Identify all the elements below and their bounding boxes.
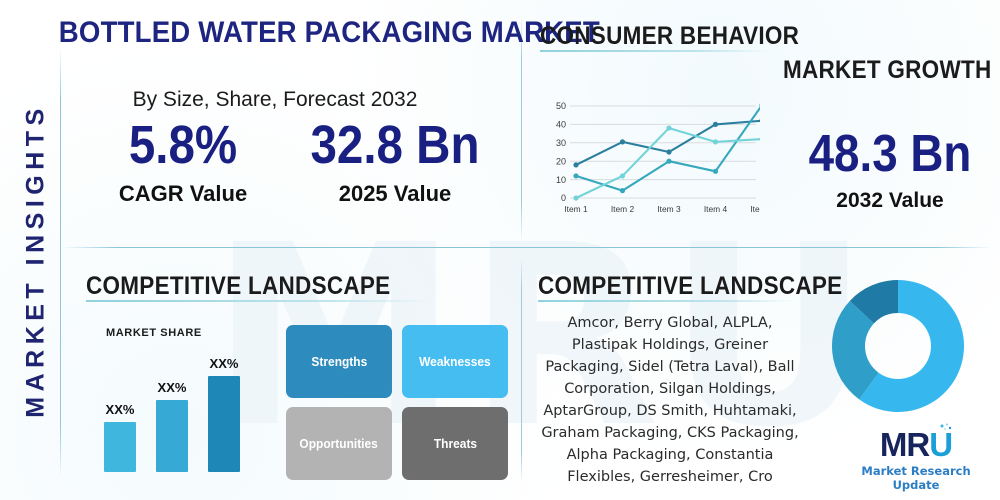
logo-mark-prefix: MR xyxy=(880,426,929,463)
section-rule-competitive-landscape-right xyxy=(538,300,796,302)
kpi-cagr-label: CAGR Value xyxy=(88,183,278,205)
bar-value-label: XX% xyxy=(106,402,135,417)
line-data-point xyxy=(620,139,625,144)
horizontal-divider xyxy=(62,247,992,248)
swot-box-label: Opportunities xyxy=(300,436,378,451)
line-data-point xyxy=(573,162,578,167)
x-axis-tick-label: Item 1 xyxy=(564,204,588,214)
y-axis-tick-label: 40 xyxy=(556,120,566,130)
page-subtitle: By Size, Share, Forecast 2032 xyxy=(40,88,510,112)
line-data-point xyxy=(666,125,671,130)
water-splash-icon xyxy=(938,422,954,438)
bar-value-label: XX% xyxy=(158,380,187,395)
section-heading-competitive-landscape-left: COMPETITIVE LANDSCAPE xyxy=(86,272,390,301)
logo-tagline: Market Research Update xyxy=(846,464,986,492)
section-rule-competitive-landscape-left xyxy=(86,300,431,302)
bar-rect xyxy=(104,422,136,472)
section-heading-consumer-behavior: CONSUMER BEHAVIOR xyxy=(540,22,799,51)
swot-box-opportunities[interactable]: Opportunities xyxy=(286,407,392,480)
line-data-point xyxy=(573,195,578,200)
mru-logo: MRU Market Research Update xyxy=(846,428,986,492)
market-share-bar-group: XX% xyxy=(156,340,188,472)
line-series xyxy=(576,105,760,191)
consumer-behavior-line-chart: 01020304050Item 1Item 2Item 3Item 4Item … xyxy=(548,100,760,218)
swot-box-label: Threats xyxy=(433,436,476,451)
line-data-point xyxy=(713,169,718,174)
donut-chart-svg xyxy=(828,276,968,416)
kpi-2025-value: 32.8 Bn xyxy=(294,118,496,172)
y-axis-tick-label: 0 xyxy=(561,193,566,203)
x-axis-tick-label: Item 2 xyxy=(611,204,635,214)
swot-box-strengths[interactable]: Strengths xyxy=(286,325,392,398)
market-share-bar-group: XX% xyxy=(208,340,240,472)
market-share-title: MARKET SHARE xyxy=(106,327,202,339)
section-rule-consumer-behavior xyxy=(540,50,768,52)
section-heading-market-growth: MARKET GROWTH xyxy=(783,56,991,85)
line-chart-svg: 01020304050Item 1Item 2Item 3Item 4Item … xyxy=(548,100,760,218)
kpi-2032-value: 48.3 Bn xyxy=(802,128,978,180)
line-data-point xyxy=(620,173,625,178)
competitor-list: Amcor, Berry Global, ALPLA, Plastipak Ho… xyxy=(535,312,805,488)
swot-box-label: Weaknesses xyxy=(419,354,491,369)
line-data-point xyxy=(759,118,760,123)
page-title: BOTTLED WATER PACKAGING MARKET xyxy=(59,16,491,50)
x-axis-tick-label: Item 4 xyxy=(704,204,728,214)
y-axis-tick-label: 30 xyxy=(556,138,566,148)
swot-matrix: StrengthsWeaknessesOpportunitiesThreats xyxy=(286,325,508,480)
line-data-point xyxy=(759,137,760,142)
swot-box-label: Strengths xyxy=(311,354,367,369)
y-axis-tick-label: 50 xyxy=(556,101,566,111)
kpi-2032-label: 2032 Value xyxy=(790,190,990,211)
side-rail-divider xyxy=(60,48,61,478)
kpi-cagr-value: 5.8% xyxy=(99,118,266,172)
line-data-point xyxy=(620,188,625,193)
market-share-bar-chart: XX%XX%XX% xyxy=(104,340,264,472)
infographic-root: MRU MARKET INSIGHTS BOTTLED WATER PACKAG… xyxy=(0,0,1000,500)
kpi-2025: 32.8 Bn 2025 Value xyxy=(280,118,510,205)
x-axis-tick-label: Item 3 xyxy=(657,204,681,214)
x-axis-tick-label: Item 5 xyxy=(750,204,760,214)
vertical-divider-bottom xyxy=(521,258,522,483)
kpi-2032: 48.3 Bn 2032 Value xyxy=(790,128,990,211)
kpi-2025-label: 2025 Value xyxy=(280,183,510,205)
bar-value-label: XX% xyxy=(210,356,239,371)
logo-wordmark: MRU xyxy=(880,428,952,461)
side-rail-label: MARKET INSIGHTS xyxy=(22,103,51,417)
line-data-point xyxy=(666,149,671,154)
section-heading-competitive-landscape-right: COMPETITIVE LANDSCAPE xyxy=(538,272,842,301)
line-data-point xyxy=(666,159,671,164)
line-data-point xyxy=(713,139,718,144)
bar-rect xyxy=(208,376,240,472)
swot-box-weaknesses[interactable]: Weaknesses xyxy=(402,325,508,398)
market-share-bar-group: XX% xyxy=(104,340,136,472)
swot-box-threats[interactable]: Threats xyxy=(402,407,508,480)
y-axis-tick-label: 10 xyxy=(556,175,566,185)
line-data-point xyxy=(713,122,718,127)
bar-rect xyxy=(156,400,188,472)
y-axis-tick-label: 20 xyxy=(556,156,566,166)
line-data-point xyxy=(573,173,578,178)
competitive-donut-chart xyxy=(828,276,968,416)
kpi-cagr: 5.8% CAGR Value xyxy=(88,118,278,205)
